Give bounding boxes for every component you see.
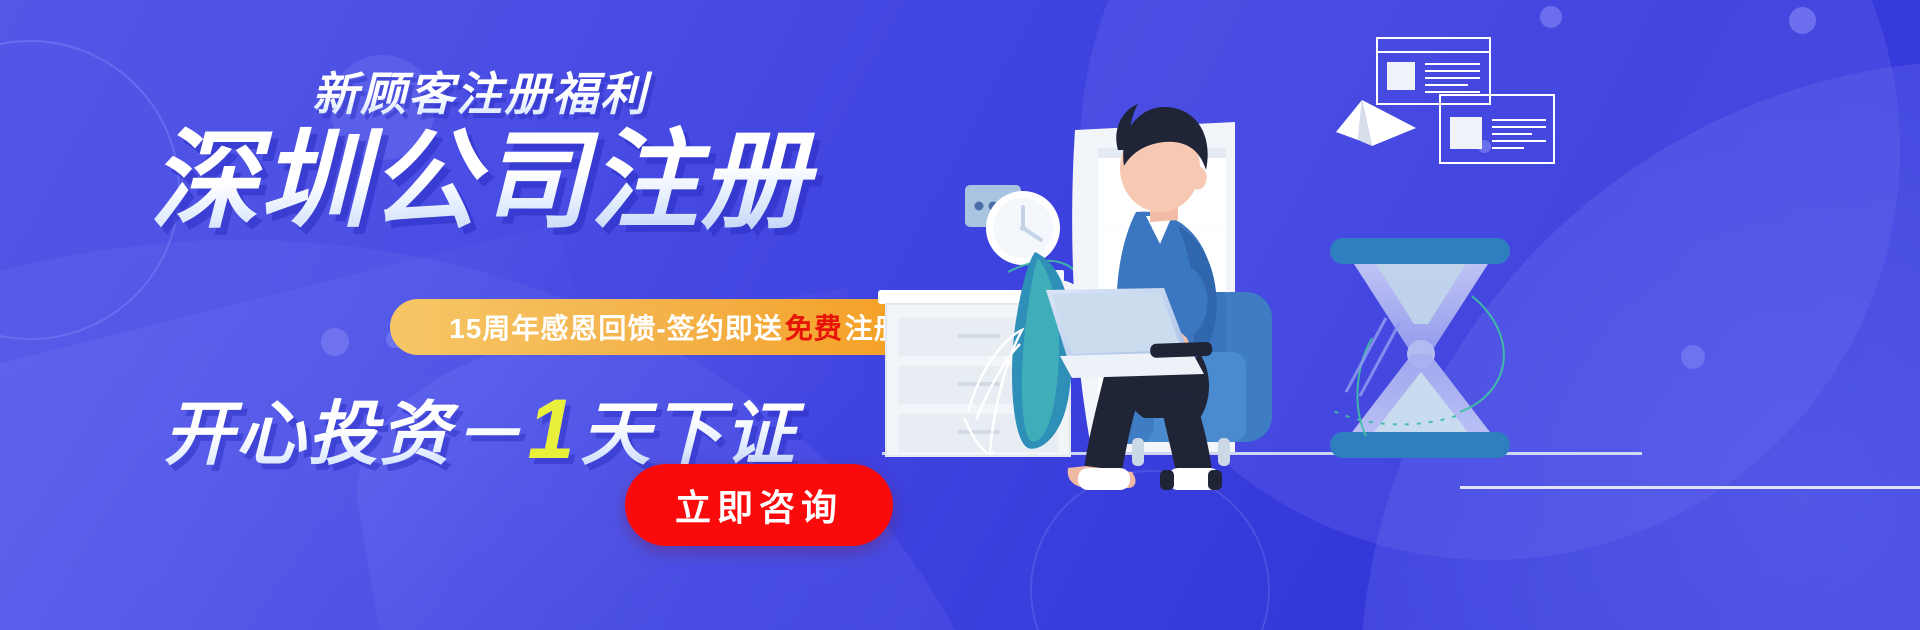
wall-clock-icon [986, 191, 1060, 265]
promo-banner: 新顾客注册福利 深圳公司注册 15周年感恩回馈-签约即送免费注册 开心投资－1天… [0, 0, 1920, 630]
subline-prefix: 开心投资－ [164, 395, 524, 473]
promo-badge-highlight: 免费 [785, 307, 843, 347]
subline-number: 1 [524, 381, 581, 478]
hourglass-icon [1328, 238, 1510, 458]
consult-now-button[interactable]: 立即咨询 [625, 464, 893, 546]
banner-copy: 新顾客注册福利 深圳公司注册 15周年感恩回馈-签约即送免费注册 开心投资－1天… [0, 0, 1000, 630]
subline-suffix: 天下证 [580, 395, 796, 473]
paper-plane-icon [1336, 100, 1416, 146]
promo-badge-prefix: 15周年感恩回馈-签约即送 [449, 307, 782, 347]
document-card-icon [1440, 95, 1554, 163]
banner-headline: 深圳公司注册 [0, 124, 960, 237]
banner-eyebrow: 新顾客注册福利 [0, 58, 960, 124]
hero-illustration [860, 0, 1920, 630]
